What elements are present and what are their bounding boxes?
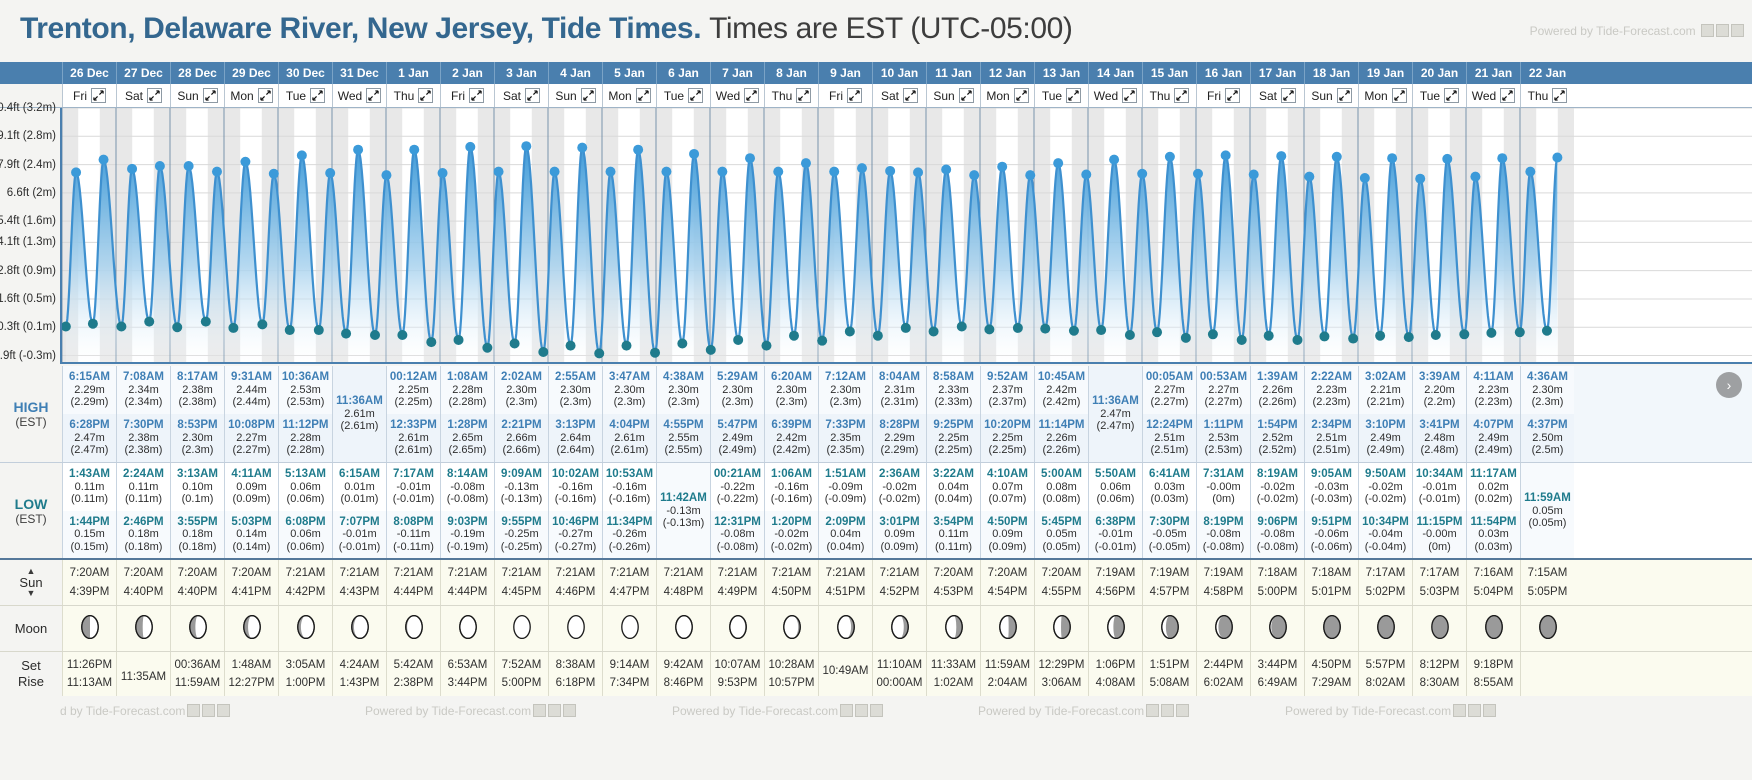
low-tide-marker[interactable] bbox=[677, 338, 687, 348]
low-tide-cell[interactable]: 2:24AM0.11m(0.11m)2:46PM0.18m(0.18m) bbox=[116, 463, 170, 558]
weekday-header-cell[interactable]: Tue bbox=[278, 84, 332, 107]
low-tide-marker[interactable] bbox=[116, 322, 126, 332]
date-header-cell[interactable]: 2 Jan bbox=[440, 62, 494, 84]
low-tide-marker[interactable] bbox=[88, 319, 98, 329]
low-tide-cell[interactable]: 7:17AM-0.01m(-0.01m)8:08PM-0.11m(-0.11m) bbox=[386, 463, 440, 558]
date-header-cell[interactable]: 20 Jan bbox=[1412, 62, 1466, 84]
low-tide-entry: 10:46PM-0.27m(-0.27m) bbox=[549, 511, 602, 559]
low-tide-cell[interactable]: 2:36AM-0.02m(-0.02m)3:01PM0.09m(0.09m) bbox=[872, 463, 926, 558]
high-tide-marker[interactable] bbox=[857, 163, 867, 173]
weekday-header-cell[interactable]: Fri bbox=[1196, 84, 1250, 107]
high-tide-cell[interactable]: 3:02AM2.21m(2.21m)3:10PM2.49m(2.49m) bbox=[1358, 366, 1412, 462]
high-tide-cell[interactable]: 1:39AM2.26m(2.26m)1:54PM2.52m(2.52m) bbox=[1250, 366, 1304, 462]
high-tide-cell[interactable]: 11:36AM2.47m(2.47m) bbox=[1088, 366, 1142, 462]
low-tide-marker[interactable] bbox=[228, 323, 238, 333]
low-tide-cell[interactable]: 8:14AM-0.08m(-0.08m)9:03PM-0.19m(-0.19m) bbox=[440, 463, 494, 558]
moonrise-time: 6:02AM bbox=[1204, 677, 1244, 689]
date-header-cell[interactable]: 3 Jan bbox=[494, 62, 548, 84]
rise-label-text: Rise bbox=[18, 674, 44, 690]
weekday-header-cell[interactable]: Sat bbox=[494, 84, 548, 107]
date-header-cell[interactable]: 1 Jan bbox=[386, 62, 440, 84]
high-tide-marker[interactable] bbox=[885, 166, 895, 176]
date-header-cell[interactable]: 13 Jan bbox=[1034, 62, 1088, 84]
low-tide-marker[interactable] bbox=[341, 329, 351, 339]
high-tide-cell[interactable]: 4:11AM2.23m(2.23m)4:07PM2.49m(2.49m) bbox=[1466, 366, 1520, 462]
high-tide-marker[interactable] bbox=[1276, 151, 1286, 161]
low-tide-marker[interactable] bbox=[845, 326, 855, 336]
high-tide-marker[interactable] bbox=[1552, 153, 1562, 163]
expand-icon[interactable] bbox=[1174, 88, 1189, 103]
weekday-text: Sat bbox=[125, 89, 143, 103]
high-tide-marker[interactable] bbox=[297, 150, 307, 160]
low-tide-marker[interactable] bbox=[957, 322, 967, 332]
expand-icon[interactable] bbox=[688, 88, 703, 103]
high-tide-marker[interactable] bbox=[212, 167, 222, 177]
high-tide-entry: 8:53PM2.30m(2.3m) bbox=[171, 414, 224, 462]
high-tide-marker[interactable] bbox=[550, 167, 560, 177]
expand-icon[interactable] bbox=[847, 88, 862, 103]
low-tide-marker[interactable] bbox=[1208, 329, 1218, 339]
high-tide-marker[interactable] bbox=[577, 143, 587, 153]
low-tide-marker[interactable] bbox=[482, 343, 492, 353]
low-tide-marker[interactable] bbox=[621, 341, 631, 351]
expand-icon[interactable] bbox=[258, 88, 273, 103]
weekday-header-cell[interactable]: Thu bbox=[386, 84, 440, 107]
expand-icon[interactable] bbox=[366, 88, 381, 103]
tide-height: 0.15m bbox=[74, 528, 105, 540]
low-tide-marker[interactable] bbox=[1237, 335, 1247, 345]
tide-time: 5:03PM bbox=[231, 516, 271, 529]
low-tide-cell[interactable]: 11:59AM0.05m(0.05m) bbox=[1520, 463, 1574, 558]
high-tide-label-text: HIGH bbox=[14, 399, 49, 415]
low-tide-marker[interactable] bbox=[873, 331, 883, 341]
low-tide-marker[interactable] bbox=[1096, 325, 1106, 335]
date-text: 4 Jan bbox=[560, 66, 591, 80]
tide-height: -0.16m bbox=[558, 481, 592, 493]
expand-icon[interactable] bbox=[744, 88, 759, 103]
high-tide-marker[interactable] bbox=[941, 165, 951, 175]
expand-icon[interactable] bbox=[1122, 88, 1137, 103]
tide-time: 2:55AM bbox=[555, 371, 596, 384]
low-tide-cell[interactable]: 4:11AM0.09m(0.09m)5:03PM0.14m(0.14m) bbox=[224, 463, 278, 558]
weekday-header-cell[interactable]: Sat bbox=[116, 84, 170, 107]
weekday-header-cell[interactable]: Fri bbox=[818, 84, 872, 107]
high-tide-marker[interactable] bbox=[240, 157, 250, 167]
expand-icon[interactable] bbox=[1500, 88, 1515, 103]
tide-time: 2:09PM bbox=[825, 516, 865, 529]
high-tide-cell[interactable]: 6:20AM2.30m(2.3m)6:39PM2.42m(2.42m) bbox=[764, 366, 818, 462]
high-tide-marker[interactable] bbox=[381, 170, 391, 180]
high-tide-marker[interactable] bbox=[465, 142, 475, 152]
low-tide-cell[interactable]: 10:02AM-0.16m(-0.16m)10:46PM-0.27m(-0.27… bbox=[548, 463, 602, 558]
high-tide-marker[interactable] bbox=[633, 145, 643, 155]
high-tide-marker[interactable] bbox=[409, 145, 419, 155]
high-tide-marker[interactable] bbox=[606, 167, 616, 177]
date-header-cell[interactable]: 28 Dec bbox=[170, 62, 224, 84]
expand-icon[interactable] bbox=[1066, 88, 1081, 103]
weekday-header-cell[interactable]: Tue bbox=[1412, 84, 1466, 107]
low-tide-marker[interactable] bbox=[397, 330, 407, 340]
weekday-header-cell[interactable]: Thu bbox=[1520, 84, 1574, 107]
date-header-cell[interactable]: 16 Jan bbox=[1196, 62, 1250, 84]
low-tide-cell[interactable]: 5:13AM0.06m(0.06m)6:08PM0.06m(0.06m) bbox=[278, 463, 332, 558]
expand-icon[interactable] bbox=[469, 88, 484, 103]
powered-by-text: Powered by Tide-Forecast.com bbox=[1285, 704, 1451, 718]
date-header-cell[interactable]: 30 Dec bbox=[278, 62, 332, 84]
high-tide-marker[interactable] bbox=[745, 153, 755, 163]
sunrise-time: 7:21AM bbox=[826, 567, 866, 579]
high-tide-marker[interactable] bbox=[438, 168, 448, 178]
low-tide-marker[interactable] bbox=[789, 331, 799, 341]
date-text: 20 Jan bbox=[1421, 66, 1458, 80]
low-tide-marker[interactable] bbox=[1181, 333, 1191, 343]
high-tide-cell[interactable]: 10:36AM2.53m(2.53m)11:12PM2.28m(2.28m) bbox=[278, 366, 332, 462]
date-header-cell[interactable]: 4 Jan bbox=[548, 62, 602, 84]
high-tide-marker[interactable] bbox=[1415, 174, 1425, 184]
low-tide-marker[interactable] bbox=[984, 324, 994, 334]
weekday-header-cell[interactable]: Wed bbox=[332, 84, 386, 107]
low-tide-cell[interactable]: 9:05AM-0.03m(-0.03m)9:51PM-0.06m(-0.06m) bbox=[1304, 463, 1358, 558]
sunset-time: 4:39PM bbox=[70, 586, 110, 598]
moonset-time: 8:12PM bbox=[1420, 659, 1460, 671]
expand-icon[interactable] bbox=[636, 88, 651, 103]
low-tide-marker[interactable] bbox=[1542, 326, 1552, 336]
expand-icon[interactable] bbox=[91, 88, 106, 103]
moon-cell bbox=[116, 606, 170, 651]
high-tide-marker[interactable] bbox=[1193, 169, 1203, 179]
date-header-cell[interactable]: 29 Dec bbox=[224, 62, 278, 84]
low-tide-marker[interactable] bbox=[1292, 335, 1302, 345]
high-tide-cell[interactable]: 00:53AM2.27m(2.27m)1:11PM2.53m(2.53m) bbox=[1196, 366, 1250, 462]
low-tide-cell[interactable]: 00:21AM-0.22m(-0.22m)12:31PM-0.08m(-0.08… bbox=[710, 463, 764, 558]
low-tide-entry: 5:00AM0.08m(0.08m) bbox=[1035, 463, 1088, 511]
low-tide-marker[interactable] bbox=[566, 341, 576, 351]
high-tide-marker[interactable] bbox=[969, 170, 979, 180]
high-tide-marker[interactable] bbox=[913, 167, 923, 177]
sunrise-time: 7:20AM bbox=[934, 567, 974, 579]
high-tide-marker[interactable] bbox=[1249, 169, 1259, 179]
high-tide-marker[interactable] bbox=[1360, 173, 1370, 183]
low-tide-marker[interactable] bbox=[761, 341, 771, 351]
low-tide-cell[interactable]: 7:31AM-0.00m(0m)8:19PM-0.08m(-0.08m) bbox=[1196, 463, 1250, 558]
high-tide-cell[interactable]: 4:38AM2.30m(2.3m)4:55PM2.55m(2.55m) bbox=[656, 366, 710, 462]
weekday-header-cell[interactable]: Mon bbox=[602, 84, 656, 107]
tide-height-alt: (2.47m) bbox=[71, 444, 109, 456]
date-header-cell[interactable]: 5 Jan bbox=[602, 62, 656, 84]
high-tide-marker[interactable] bbox=[1053, 158, 1063, 168]
low-tide-label-text: LOW bbox=[15, 496, 48, 512]
high-tide-cell[interactable]: 8:58AM2.33m(2.33m)9:25PM2.25m(2.25m) bbox=[926, 366, 980, 462]
weekday-text: Wed bbox=[1472, 89, 1496, 103]
high-tide-marker[interactable] bbox=[184, 161, 194, 171]
low-tide-marker[interactable] bbox=[257, 319, 267, 329]
high-tide-cell[interactable]: 9:52AM2.37m(2.37m)10:20PM2.25m(2.25m) bbox=[980, 366, 1034, 462]
high-tide-cell[interactable]: 9:31AM2.44m(2.44m)10:08PM2.27m(2.27m) bbox=[224, 366, 278, 462]
low-tide-cell[interactable]: 9:50AM-0.02m(-0.02m)10:34PM-0.04m(-0.04m… bbox=[1358, 463, 1412, 558]
high-tide-marker[interactable] bbox=[1525, 167, 1535, 177]
high-tide-marker[interactable] bbox=[1304, 172, 1314, 182]
high-tide-cell[interactable]: 6:15AM2.29m(2.29m)6:28PM2.47m(2.47m) bbox=[62, 366, 116, 462]
high-tide-marker[interactable] bbox=[1081, 169, 1091, 179]
date-header-cell[interactable]: 10 Jan bbox=[872, 62, 926, 84]
expand-icon[interactable] bbox=[1444, 88, 1459, 103]
high-tide-marker[interactable] bbox=[1332, 152, 1342, 162]
low-tide-marker[interactable] bbox=[1348, 334, 1358, 344]
low-tide-cell[interactable]: 9:09AM-0.13m(-0.13m)9:55PM-0.25m(-0.25m) bbox=[494, 463, 548, 558]
high-tide-marker[interactable] bbox=[689, 149, 699, 159]
high-tide-cell[interactable]: 4:36AM2.30m(2.3m)4:37PM2.50m(2.5m) bbox=[1520, 366, 1574, 462]
weekday-header-cell[interactable]: Wed bbox=[1466, 84, 1520, 107]
high-tide-cell[interactable]: 3:39AM2.20m(2.2m)3:41PM2.48m(2.48m) bbox=[1412, 366, 1466, 462]
low-tide-marker[interactable] bbox=[1013, 323, 1023, 333]
high-tide-marker[interactable] bbox=[494, 167, 504, 177]
weekday-header-cell[interactable]: Sat bbox=[1250, 84, 1304, 107]
high-tide-cell[interactable]: 11:36AM2.61m(2.61m) bbox=[332, 366, 386, 462]
date-header-cell[interactable]: 11 Jan bbox=[926, 62, 980, 84]
low-tide-marker[interactable] bbox=[1459, 329, 1469, 339]
expand-icon[interactable] bbox=[1392, 88, 1407, 103]
high-tide-marker[interactable] bbox=[717, 167, 727, 177]
low-tide-marker[interactable] bbox=[1040, 324, 1050, 334]
date-header-cell[interactable]: 15 Jan bbox=[1142, 62, 1196, 84]
low-tide-marker[interactable] bbox=[285, 325, 295, 335]
high-tide-marker[interactable] bbox=[353, 145, 363, 155]
weekday-header-cell[interactable]: Fri bbox=[440, 84, 494, 107]
low-tide-marker[interactable] bbox=[733, 335, 743, 345]
high-tide-cell[interactable]: 8:04AM2.31m(2.31m)8:28PM2.29m(2.29m) bbox=[872, 366, 926, 462]
high-tide-marker[interactable] bbox=[269, 169, 279, 179]
weekday-header-cell[interactable]: Wed bbox=[1088, 84, 1142, 107]
sunset-arrow-icon: ▼ bbox=[27, 589, 36, 598]
low-tide-marker[interactable] bbox=[1486, 328, 1496, 338]
low-tide-marker[interactable] bbox=[172, 322, 182, 332]
low-tide-marker[interactable] bbox=[1319, 331, 1329, 341]
moon-phase-icon bbox=[348, 614, 372, 643]
high-tide-marker[interactable] bbox=[997, 162, 1007, 172]
high-tide-marker[interactable] bbox=[773, 167, 783, 177]
high-tide-cell[interactable]: 8:17AM2.38m(2.38m)8:53PM2.30m(2.3m) bbox=[170, 366, 224, 462]
high-tide-marker[interactable] bbox=[155, 161, 165, 171]
expand-icon[interactable] bbox=[203, 88, 218, 103]
date-header-cell[interactable]: 8 Jan bbox=[764, 62, 818, 84]
low-tide-cell[interactable]: 1:51AM-0.09m(-0.09m)2:09PM0.04m(0.04m) bbox=[818, 463, 872, 558]
low-tide-marker[interactable] bbox=[1515, 327, 1525, 337]
moon-set-rise-cell bbox=[1520, 652, 1574, 696]
low-tide-marker[interactable] bbox=[538, 347, 548, 357]
high-tide-cell[interactable]: 2:55AM2.30m(2.3m)3:13PM2.64m(2.64m) bbox=[548, 366, 602, 462]
high-tide-entry: 10:20PM2.25m(2.25m) bbox=[981, 414, 1034, 462]
weekday-header-cell[interactable]: Tue bbox=[656, 84, 710, 107]
low-tide-marker[interactable] bbox=[370, 330, 380, 340]
low-tide-cell[interactable]: 10:53AM-0.16m(-0.16m)11:34PM-0.26m(-0.26… bbox=[602, 463, 656, 558]
low-tide-marker[interactable] bbox=[901, 323, 911, 333]
tide-height-alt: (0.18m) bbox=[179, 541, 217, 553]
low-tide-marker[interactable] bbox=[1125, 330, 1135, 340]
high-tide-marker[interactable] bbox=[1165, 152, 1175, 162]
date-header-cell[interactable]: 18 Jan bbox=[1304, 62, 1358, 84]
date-header-cell[interactable]: 27 Dec bbox=[116, 62, 170, 84]
high-tide-cell[interactable]: 2:02AM2.30m(2.3m)2:21PM2.66m(2.66m) bbox=[494, 366, 548, 462]
low-tide-cell[interactable]: 11:42AM-0.13m(-0.13m) bbox=[656, 463, 710, 558]
high-tide-marker[interactable] bbox=[325, 168, 335, 178]
high-tide-cell[interactable]: 7:08AM2.34m(2.34m)7:30PM2.38m(2.38m) bbox=[116, 366, 170, 462]
high-tide-cell[interactable]: 7:12AM2.30m(2.3m)7:33PM2.35m(2.35m) bbox=[818, 366, 872, 462]
moonrise-time: 1:00PM bbox=[286, 677, 326, 689]
tide-time: 1:39AM bbox=[1257, 371, 1298, 384]
weekday-header-cell[interactable]: Wed bbox=[710, 84, 764, 107]
low-tide-marker[interactable] bbox=[1264, 331, 1274, 341]
expand-icon[interactable] bbox=[310, 88, 325, 103]
low-tide-cell[interactable]: 5:00AM0.08m(0.08m)5:45PM0.05m(0.05m) bbox=[1034, 463, 1088, 558]
high-tide-cell[interactable]: 3:47AM2.30m(2.3m)4:04PM2.61m(2.61m) bbox=[602, 366, 656, 462]
sun-cell: 7:20AM4:54PM bbox=[980, 560, 1034, 605]
low-tide-cell[interactable]: 3:13AM0.10m(0.1m)3:55PM0.18m(0.18m) bbox=[170, 463, 224, 558]
low-tide-marker[interactable] bbox=[201, 317, 211, 327]
weekday-header-cell[interactable]: Thu bbox=[1142, 84, 1196, 107]
date-header-cell[interactable]: 7 Jan bbox=[710, 62, 764, 84]
low-tide-cell[interactable]: 1:43AM0.11m(0.11m)1:44PM0.15m(0.15m) bbox=[62, 463, 116, 558]
low-tide-marker[interactable] bbox=[929, 326, 939, 336]
low-tide-cell[interactable]: 4:10AM0.07m(0.07m)4:50PM0.09m(0.09m) bbox=[980, 463, 1034, 558]
expand-icon[interactable] bbox=[581, 88, 596, 103]
low-tide-marker[interactable] bbox=[1375, 331, 1385, 341]
low-tide-marker[interactable] bbox=[706, 345, 716, 355]
expand-icon[interactable] bbox=[1225, 88, 1240, 103]
sunset-time: 4:56PM bbox=[1096, 586, 1136, 598]
scroll-right-icon[interactable]: › bbox=[1716, 372, 1742, 398]
low-tide-marker[interactable] bbox=[1069, 326, 1079, 336]
tide-time: 8:53PM bbox=[177, 419, 217, 432]
low-tide-marker[interactable] bbox=[426, 337, 436, 347]
weekday-header-cell[interactable]: Mon bbox=[980, 84, 1034, 107]
low-tide-cell[interactable]: 6:15AM0.01m(0.01m)7:07PM-0.01m(-0.01m) bbox=[332, 463, 386, 558]
moonset-time: 5:57PM bbox=[1366, 659, 1406, 671]
tide-time: 8:08PM bbox=[393, 516, 433, 529]
tide-time: 6:28PM bbox=[69, 419, 109, 432]
tide-height-alt: (2.3m) bbox=[614, 396, 646, 408]
weekday-header-cell[interactable]: Sun bbox=[1304, 84, 1358, 107]
sun-cell: 7:21AM4:44PM bbox=[440, 560, 494, 605]
high-tide-marker[interactable] bbox=[71, 167, 81, 177]
low-tide-marker[interactable] bbox=[454, 335, 464, 345]
weekday-header-cell[interactable]: Mon bbox=[1358, 84, 1412, 107]
date-header-cell[interactable]: 21 Jan bbox=[1466, 62, 1520, 84]
chart-plot-area[interactable] bbox=[62, 108, 1752, 364]
expand-icon[interactable] bbox=[525, 88, 540, 103]
high-tide-marker[interactable] bbox=[1137, 169, 1147, 179]
date-header-cell[interactable]: 6 Jan bbox=[656, 62, 710, 84]
high-tide-entry: 1:11PM2.53m(2.53m) bbox=[1197, 414, 1250, 462]
date-header-cell[interactable]: 22 Jan bbox=[1520, 62, 1574, 84]
tide-height-alt: (0.11m) bbox=[935, 541, 972, 553]
expand-icon[interactable] bbox=[1014, 88, 1029, 103]
low-tide-marker[interactable] bbox=[650, 348, 660, 358]
expand-icon[interactable] bbox=[147, 88, 162, 103]
high-tide-cell[interactable]: 00:05AM2.27m(2.27m)12:24PM2.51m(2.51m) bbox=[1142, 366, 1196, 462]
low-tide-marker[interactable] bbox=[1431, 330, 1441, 340]
moon-cell bbox=[1304, 606, 1358, 651]
date-header-cell[interactable]: 17 Jan bbox=[1250, 62, 1304, 84]
tide-height: 2.25m bbox=[992, 432, 1023, 444]
high-tide-marker[interactable] bbox=[521, 141, 531, 151]
high-tide-cell[interactable]: 10:45AM2.42m(2.42m)11:14PM2.26m(2.26m) bbox=[1034, 366, 1088, 462]
expand-icon[interactable] bbox=[959, 88, 974, 103]
expand-icon[interactable] bbox=[796, 88, 811, 103]
high-tide-cell[interactable]: 00:12AM2.25m(2.25m)12:33PM2.61m(2.61m) bbox=[386, 366, 440, 462]
weekday-header-cell[interactable]: Tue bbox=[1034, 84, 1088, 107]
expand-icon[interactable] bbox=[418, 88, 433, 103]
date-header-cell[interactable]: 19 Jan bbox=[1358, 62, 1412, 84]
high-tide-marker[interactable] bbox=[1470, 172, 1480, 182]
low-tide-cell[interactable]: 6:41AM0.03m(0.03m)7:30PM-0.05m(-0.05m) bbox=[1142, 463, 1196, 558]
low-tide-marker[interactable] bbox=[1404, 332, 1414, 342]
date-text: 28 Dec bbox=[178, 66, 217, 80]
weekday-header-cell[interactable]: Sun bbox=[926, 84, 980, 107]
high-tide-cell[interactable]: 2:22AM2.23m(2.23m)2:34PM2.51m(2.51m) bbox=[1304, 366, 1358, 462]
moon-set-rise-cell: 11:59AM2:04AM bbox=[980, 652, 1034, 696]
low-tide-cell[interactable]: 1:06AM-0.16m(-0.16m)1:20PM-0.02m(-0.02m) bbox=[764, 463, 818, 558]
weekday-header-cell[interactable]: Sat bbox=[872, 84, 926, 107]
low-tide-marker[interactable] bbox=[817, 336, 827, 346]
high-tide-cell[interactable]: 1:08AM2.28m(2.28m)1:28PM2.65m(2.65m) bbox=[440, 366, 494, 462]
high-tide-marker[interactable] bbox=[1109, 155, 1119, 165]
low-tide-marker[interactable] bbox=[314, 325, 324, 335]
low-tide-cell[interactable]: 3:22AM0.04m(0.04m)3:54PM0.11m(0.11m) bbox=[926, 463, 980, 558]
date-header-cell[interactable]: 31 Dec bbox=[332, 62, 386, 84]
tide-height: -0.26m bbox=[612, 528, 646, 540]
moonset-time: 1:48AM bbox=[232, 659, 272, 671]
weekday-header-cell[interactable]: Thu bbox=[764, 84, 818, 107]
tide-time: 1:11PM bbox=[1204, 419, 1244, 432]
sunset-time: 4:57PM bbox=[1150, 586, 1190, 598]
high-tide-marker[interactable] bbox=[661, 167, 671, 177]
weekday-header-cell[interactable]: Mon bbox=[224, 84, 278, 107]
weekday-header-cell[interactable]: Sun bbox=[170, 84, 224, 107]
expand-icon[interactable] bbox=[1281, 88, 1296, 103]
high-tide-marker[interactable] bbox=[99, 155, 109, 165]
set-label-text: Set bbox=[21, 658, 41, 674]
high-tide-marker[interactable] bbox=[1221, 150, 1231, 160]
tide-height-alt: (0.06m) bbox=[1097, 493, 1135, 505]
high-tide-cell[interactable]: 5:29AM2.30m(2.3m)5:47PM2.49m(2.49m) bbox=[710, 366, 764, 462]
high-tide-marker[interactable] bbox=[1387, 153, 1397, 163]
date-header-cell[interactable]: 14 Jan bbox=[1088, 62, 1142, 84]
high-tide-marker[interactable] bbox=[1025, 170, 1035, 180]
expand-icon[interactable] bbox=[1337, 88, 1352, 103]
date-header-cell[interactable]: 26 Dec bbox=[62, 62, 116, 84]
low-tide-cell[interactable]: 11:17AM0.02m(0.02m)11:54PM0.03m(0.03m) bbox=[1466, 463, 1520, 558]
high-tide-marker[interactable] bbox=[1442, 154, 1452, 164]
expand-icon[interactable] bbox=[903, 88, 918, 103]
low-tide-marker[interactable] bbox=[144, 317, 154, 327]
low-tide-marker[interactable] bbox=[510, 338, 520, 348]
high-tide-marker[interactable] bbox=[1497, 153, 1507, 163]
expand-icon[interactable] bbox=[1552, 88, 1567, 103]
date-header-cell[interactable]: 12 Jan bbox=[980, 62, 1034, 84]
low-tide-cell[interactable]: 8:19AM-0.02m(-0.02m)9:06PM-0.08m(-0.08m) bbox=[1250, 463, 1304, 558]
low-tide-marker[interactable] bbox=[1152, 327, 1162, 337]
date-header-cell[interactable]: 9 Jan bbox=[818, 62, 872, 84]
low-tide-cell[interactable]: 10:34AM-0.01m(-0.01m)11:15PM-0.00m(0m) bbox=[1412, 463, 1466, 558]
weekday-header-cell[interactable]: Sun bbox=[548, 84, 602, 107]
high-tide-marker[interactable] bbox=[801, 158, 811, 168]
tide-time: 11:54PM bbox=[1470, 516, 1516, 529]
low-tide-cell[interactable]: 5:50AM0.06m(0.06m)6:38PM-0.01m(-0.01m) bbox=[1088, 463, 1142, 558]
weekday-header-cell[interactable]: Fri bbox=[62, 84, 116, 107]
high-tide-marker[interactable] bbox=[829, 167, 839, 177]
low-tide-marker[interactable] bbox=[594, 348, 604, 358]
high-tide-marker[interactable] bbox=[127, 164, 137, 174]
